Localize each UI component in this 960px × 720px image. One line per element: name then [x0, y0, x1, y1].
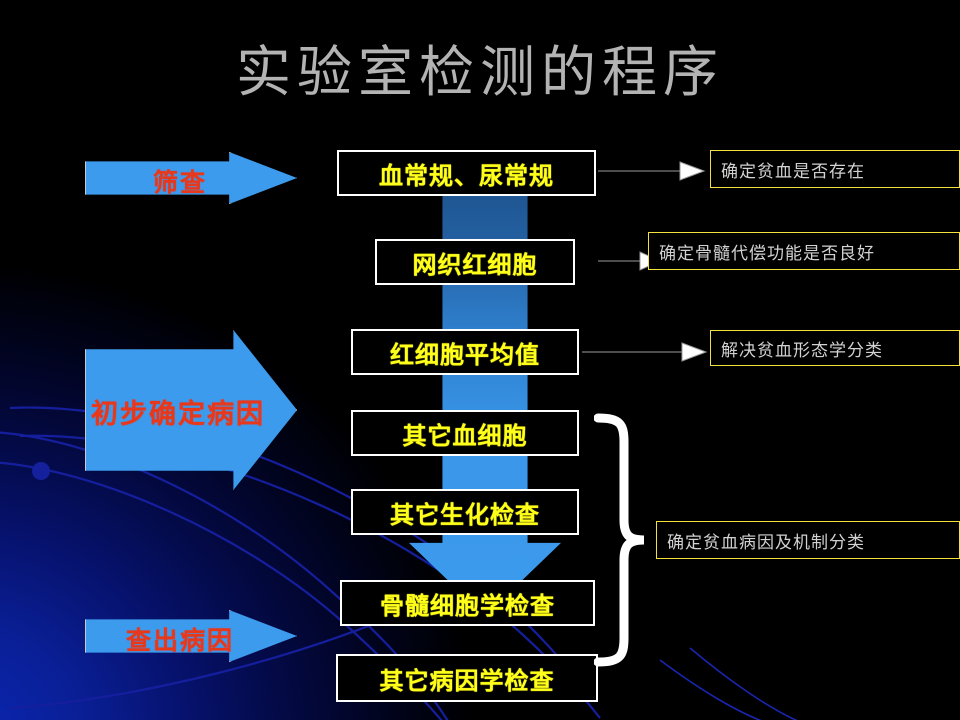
grouping-brace [594, 412, 654, 668]
connector-arrow-3 [580, 336, 710, 368]
result-note-marrow-compensation[interactable]: 确定骨髓代偿功能是否良好 [648, 232, 960, 270]
result-note-anemia-presence[interactable]: 确定贫血是否存在 [710, 150, 960, 188]
step-box-blood-urine-routine[interactable]: 血常规、尿常规 [337, 150, 596, 196]
background-dot [32, 462, 50, 480]
step-box-other-etiology[interactable]: 其它病因学检查 [336, 654, 598, 702]
step-box-other-blood-cells[interactable]: 其它血细胞 [351, 410, 579, 456]
stage-label-screening: 筛查 [85, 163, 275, 199]
page-title: 实验室检测的程序 [0, 42, 960, 103]
stage-label-preliminary-cause: 初步确定病因 [78, 392, 278, 431]
step-box-other-biochemistry[interactable]: 其它生化检查 [351, 489, 579, 535]
result-note-morphologic-classification[interactable]: 解决贫血形态学分类 [710, 330, 960, 366]
step-box-bone-marrow-cytology[interactable]: 骨髓细胞学检查 [340, 580, 595, 626]
connector-arrow-1 [596, 155, 708, 187]
stage-label-identify-cause: 查出病因 [85, 621, 275, 657]
slide-canvas: 实验室检测的程序 筛查 初步确定病因 查出病因 血常规、尿常规 网织红细胞 红细… [0, 0, 960, 720]
result-note-etiology-classification[interactable]: 确定贫血病因及机制分类 [656, 521, 960, 559]
step-box-reticulocyte[interactable]: 网织红细胞 [375, 239, 575, 285]
step-box-rbc-indices[interactable]: 红细胞平均值 [351, 329, 579, 375]
